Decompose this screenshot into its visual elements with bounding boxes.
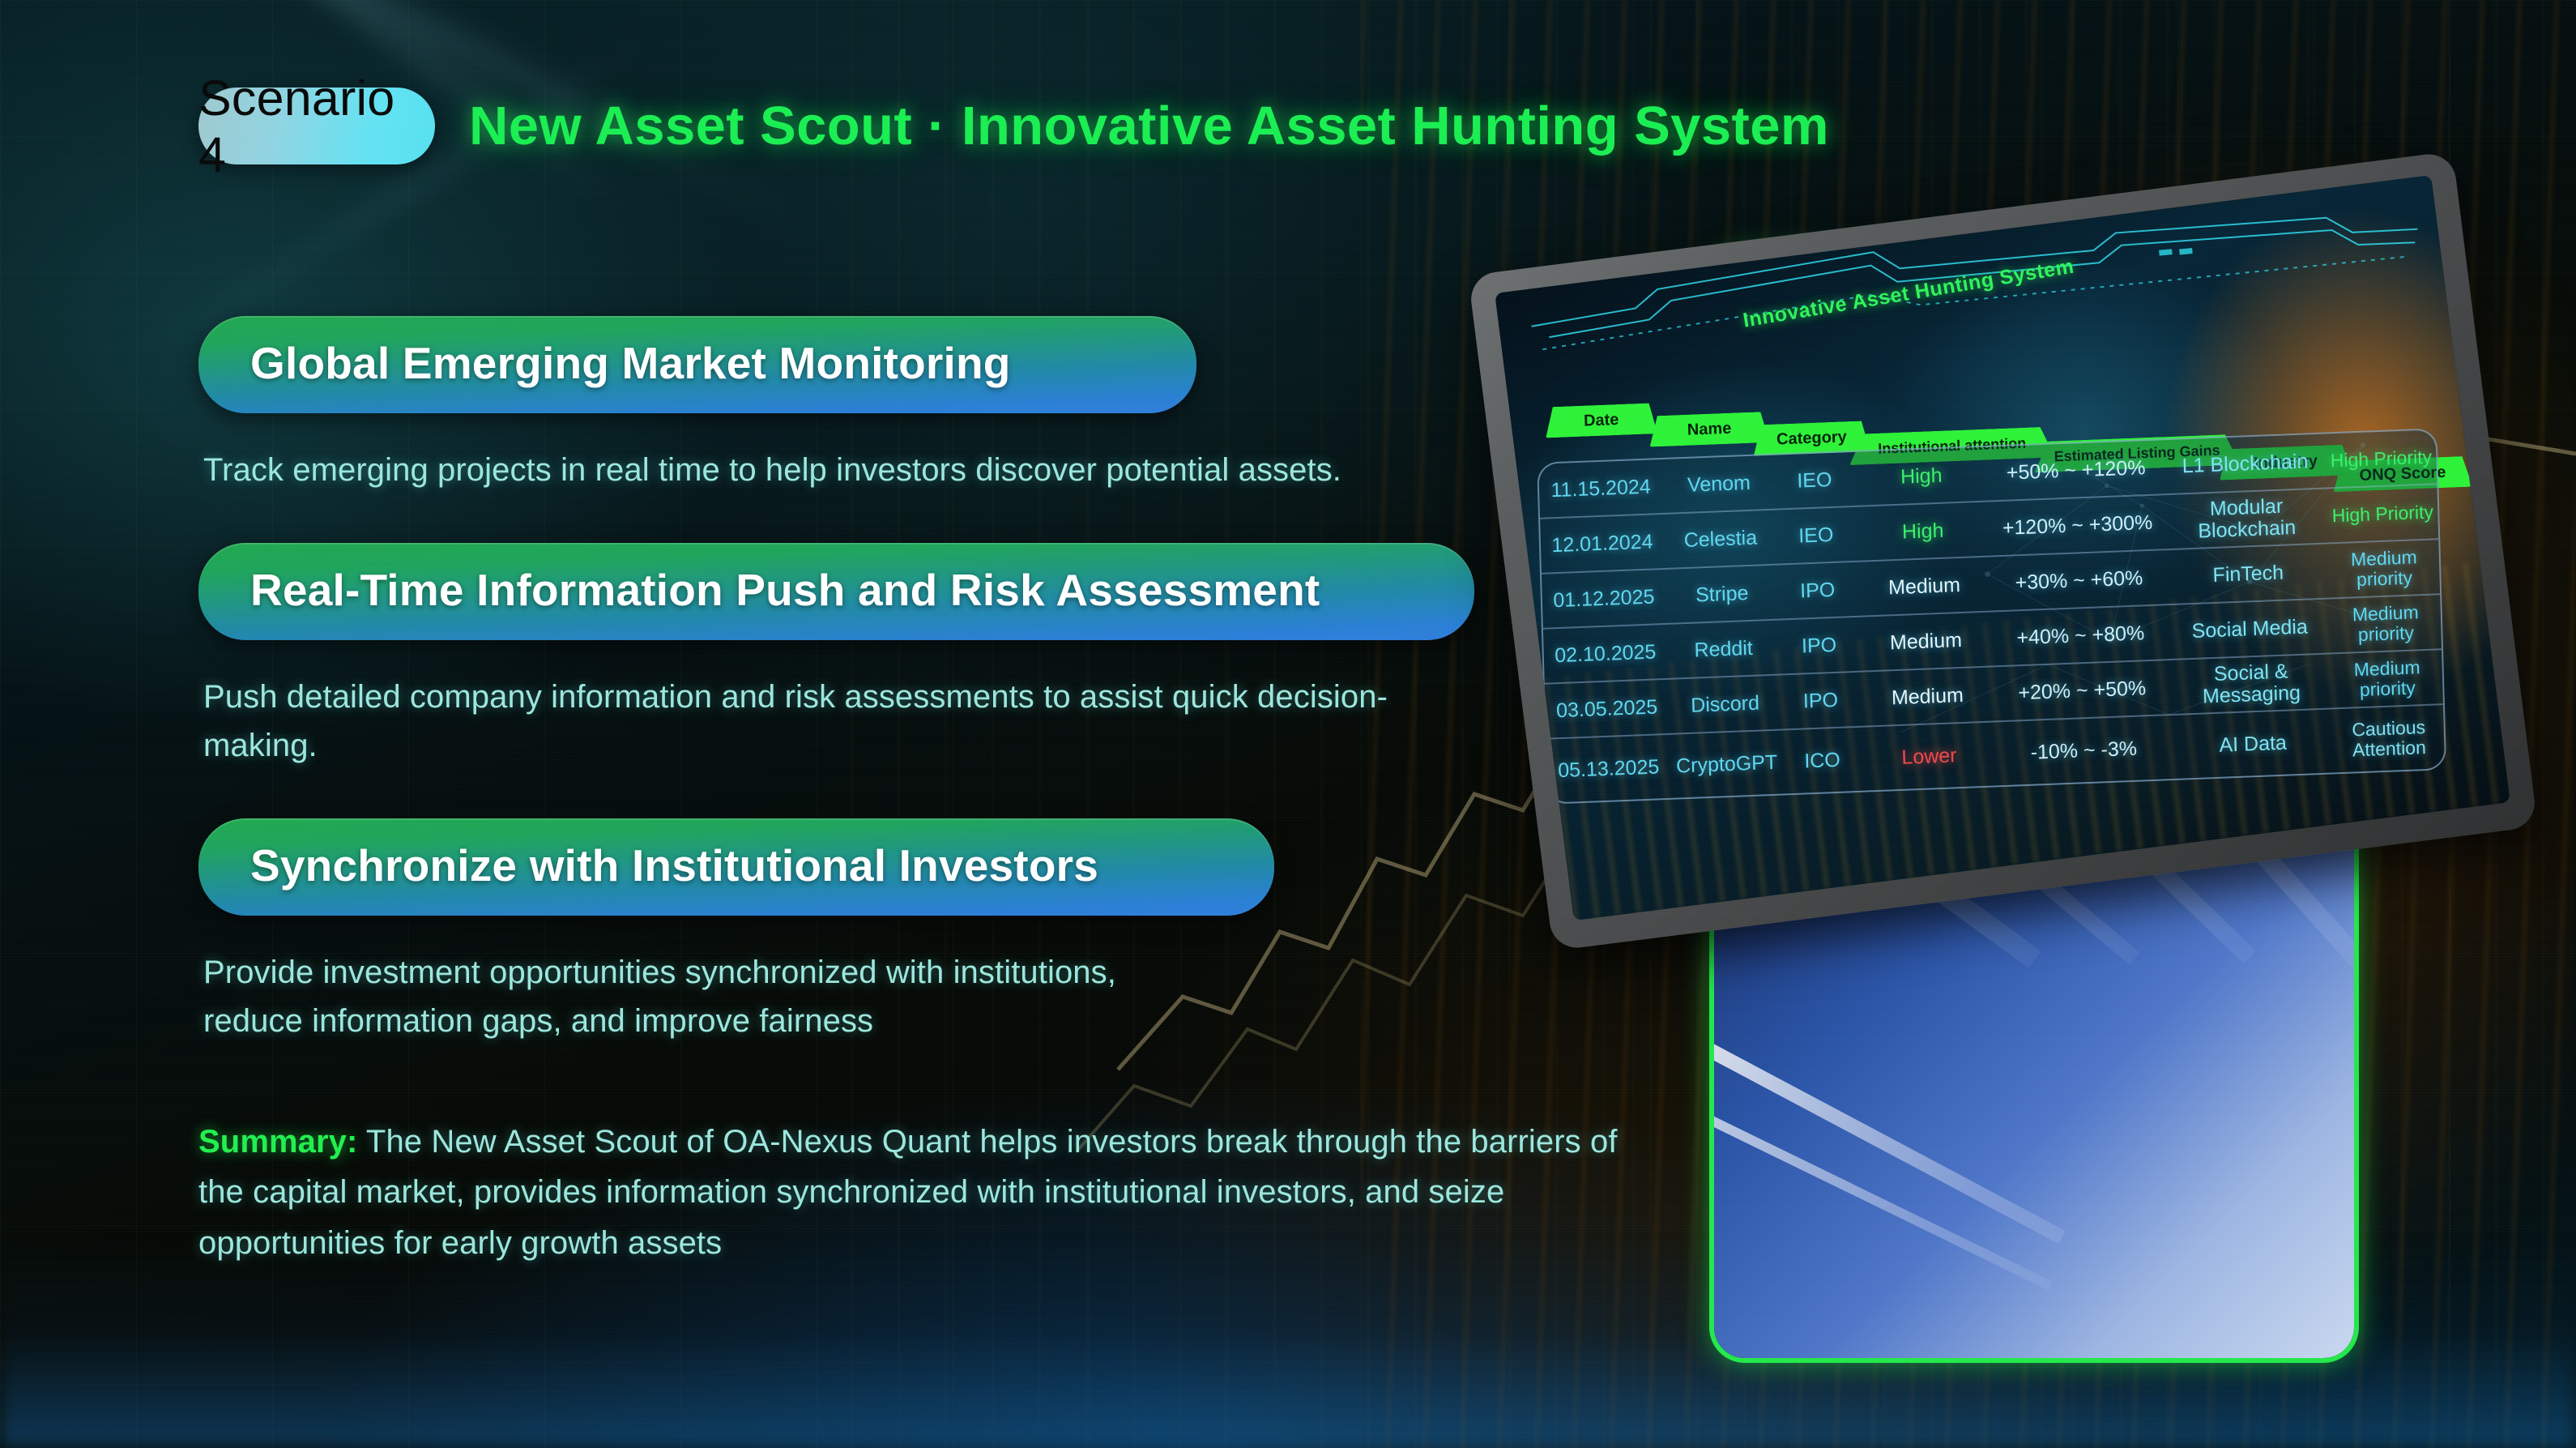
cell-name: Venom xyxy=(1662,471,1776,497)
scenario-badge-label: Scenario 4 xyxy=(198,70,435,183)
cell-category: IPO xyxy=(1781,688,1860,713)
cell-attention: Medium xyxy=(1859,683,1996,710)
table-header-name[interactable]: Name xyxy=(1649,412,1770,447)
monitor-screen: Innovative Asset Hunting System Date Nam… xyxy=(1495,175,2510,920)
cell-industry: L1 Blockchain xyxy=(2162,450,2328,478)
cell-gains: +40% ~ +80% xyxy=(1994,621,2168,650)
scenario-badge: Scenario 4 xyxy=(198,88,435,164)
cell-gains: -10% ~ -3% xyxy=(1997,737,2171,765)
feature-description: Provide investment opportunities synchro… xyxy=(203,948,1175,1045)
cell-date: 01.12.2025 xyxy=(1542,585,1666,612)
feature-pill-label: Synchronize with Institutional Investors xyxy=(250,839,1098,891)
cell-attention: Medium xyxy=(1857,628,1994,655)
cell-attention: High xyxy=(1854,518,1991,545)
cell-gains: +30% ~ +60% xyxy=(1992,566,2166,595)
cell-category: IPO xyxy=(1778,578,1857,603)
cell-onq-score: Medium priority xyxy=(2331,547,2438,592)
product-visual: Innovative Asset Hunting System Date Nam… xyxy=(1636,227,2576,1361)
cell-name: Stripe xyxy=(1665,581,1779,607)
feature-block: Synchronize with Institutional Investors… xyxy=(198,818,1657,1045)
feature-pill-global-emerging-market-monitoring[interactable]: Global Emerging Market Monitoring xyxy=(198,316,1196,413)
cell-onq-score: High Priority xyxy=(2329,502,2437,526)
monitor-device: Innovative Asset Hunting System Date Nam… xyxy=(1468,152,2538,951)
cell-industry: Modular Blockchain xyxy=(2164,493,2330,544)
cell-attention: High xyxy=(1853,463,1990,489)
cell-category: IPO xyxy=(1780,633,1858,658)
cell-name: Celestia xyxy=(1664,526,1778,552)
asset-table: Date Name Category Institutional attenti… xyxy=(1535,373,2446,828)
page-title: New Asset Scout · Innovative Asset Hunti… xyxy=(469,95,1829,157)
feature-pill-label: Global Emerging Market Monitoring xyxy=(250,337,1011,389)
cell-category: ICO xyxy=(1783,748,1862,773)
cell-category: IEO xyxy=(1776,468,1854,493)
summary-paragraph: Summary: The New Asset Scout of OA-Nexus… xyxy=(198,1117,1624,1268)
cell-onq-score: Medium priority xyxy=(2333,656,2441,701)
cell-onq-score: Cautious Attention xyxy=(2335,716,2442,761)
cell-gains: +20% ~ +50% xyxy=(1995,677,2169,705)
cell-industry: Social Media xyxy=(2167,615,2333,643)
cell-name: Discord xyxy=(1668,691,1782,717)
cell-date: 05.13.2025 xyxy=(1546,755,1670,782)
feature-block: Real-Time Information Push and Risk Asse… xyxy=(198,543,1657,770)
cell-date: 11.15.2024 xyxy=(1539,476,1663,502)
cell-gains: +120% ~ +300% xyxy=(1990,511,2164,540)
slide-canvas: Scenario 4 New Asset Scout · Innovative … xyxy=(0,0,2576,1448)
summary-label: Summary: xyxy=(198,1124,357,1160)
feature-description: Track emerging projects in real time to … xyxy=(203,446,1467,494)
feature-pill-real-time-information-push-and-risk-assessment[interactable]: Real-Time Information Push and Risk Asse… xyxy=(198,543,1474,640)
summary-text: The New Asset Scout of OA-Nexus Quant he… xyxy=(198,1124,1618,1261)
cell-onq-score: High Priority xyxy=(2327,446,2435,471)
cell-date: 02.10.2025 xyxy=(1543,640,1667,667)
slide-header: Scenario 4 New Asset Scout · Innovative … xyxy=(198,88,1829,164)
asset-table-body: 11.15.2024 Venom IEO High +50% ~ +120% L… xyxy=(1537,428,2446,805)
cell-industry: Social & Messaging xyxy=(2168,659,2334,709)
feature-list: Global Emerging Market Monitoring Track … xyxy=(198,316,1657,1094)
feature-pill-synchronize-with-institutional-investors[interactable]: Synchronize with Institutional Investors xyxy=(198,818,1274,916)
cell-date: 03.05.2025 xyxy=(1545,695,1669,722)
cell-date: 12.01.2024 xyxy=(1541,530,1665,557)
cell-name: CryptoGPT xyxy=(1670,751,1784,777)
cell-industry: FinTech xyxy=(2165,560,2331,588)
feature-pill-label: Real-Time Information Push and Risk Asse… xyxy=(250,564,1320,616)
cell-attention: Medium xyxy=(1856,573,1993,600)
table-header-date[interactable]: Date xyxy=(1545,403,1657,438)
feature-block: Global Emerging Market Monitoring Track … xyxy=(198,316,1657,494)
cell-onq-score: Medium priority xyxy=(2331,601,2439,646)
cell-category: IEO xyxy=(1776,523,1855,548)
cell-attention: Lower xyxy=(1861,743,1998,770)
cell-gains: +50% ~ +120% xyxy=(1989,456,2163,485)
cell-industry: AI Data xyxy=(2170,730,2336,758)
cell-name: Reddit xyxy=(1666,636,1781,662)
feature-description: Push detailed company information and ri… xyxy=(203,673,1467,770)
